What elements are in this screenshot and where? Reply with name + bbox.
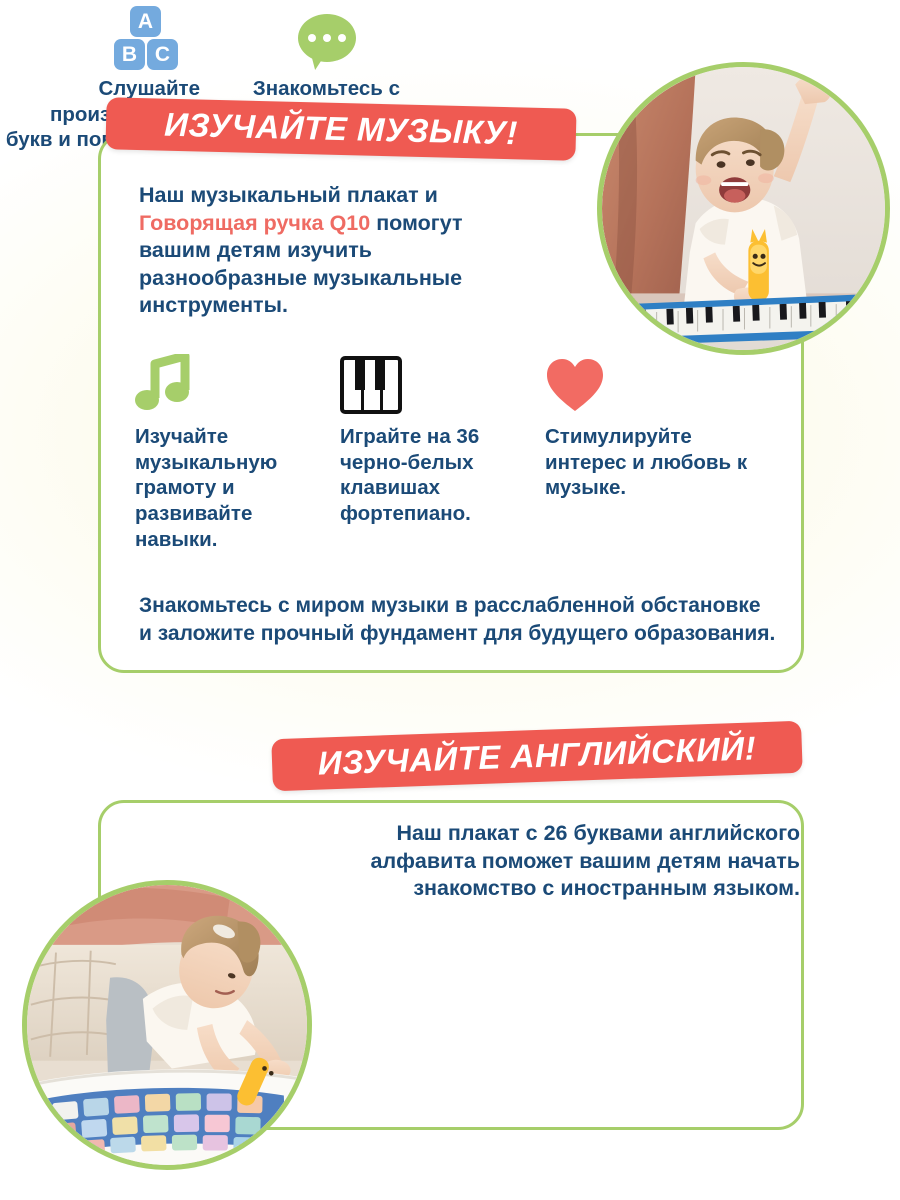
music-feature-2-label: Играйте на 36 черно-белых клавишах форте…: [340, 424, 545, 527]
english-intro-text: Наш плакат с 26 буквами английского алфа…: [300, 820, 800, 903]
bubble-dot-3: [338, 34, 346, 42]
english-banner-title: ИЗУЧАЙТЕ АНГЛИЙСКИЙ!: [271, 721, 802, 791]
block-letter-a: A: [130, 6, 161, 37]
abc-blocks-glyph: A B C: [114, 6, 176, 70]
music-photo-image: [602, 67, 885, 350]
speech-bubble-body: [298, 14, 356, 62]
english-photo-image: [27, 885, 307, 1165]
promo-page: ИЗУЧАЙТЕ МУЗЫКУ!: [0, 0, 900, 1200]
girl-with-alphabet-poster-illustration: [27, 885, 307, 1165]
bubble-dot-1: [308, 34, 316, 42]
heart-glyph: [545, 358, 605, 414]
music-intro-highlight: Говорящая ручка Q10: [139, 211, 370, 235]
speech-bubble-glyph: [298, 14, 358, 70]
speech-bubble-icon: [200, 0, 400, 70]
music-intro-part1: Наш музыкальный плакат и: [139, 183, 438, 207]
english-photo: [22, 880, 312, 1170]
piano-keys-glyph: [340, 356, 402, 414]
music-feature-2: Играйте на 36 черно-белых клавишах форте…: [340, 352, 545, 552]
piano-keys-icon: [340, 352, 545, 414]
heart-icon: [545, 352, 750, 414]
music-note-icon: [135, 352, 340, 414]
music-feature-3-label: Стимулируйте интерес и любовь к музыке.: [545, 424, 750, 501]
bubble-dot-2: [323, 34, 331, 42]
block-letter-c: C: [147, 39, 178, 70]
music-feature-list: Изучайте музыкальную грамоту и развивайт…: [135, 352, 795, 552]
music-feature-1: Изучайте музыкальную грамоту и развивайт…: [135, 352, 340, 552]
girl-with-pen-illustration: [602, 67, 885, 350]
music-outro-text: Знакомьтесь с миром музыки в расслабленн…: [139, 592, 779, 647]
abc-blocks-icon: A B C: [0, 0, 200, 70]
music-photo: [597, 62, 890, 355]
music-feature-1-label: Изучайте музыкальную грамоту и развивайт…: [135, 424, 340, 552]
block-letter-b: B: [114, 39, 145, 70]
music-note-glyph: [135, 354, 191, 414]
music-feature-3: Стимулируйте интерес и любовь к музыке.: [545, 352, 750, 552]
music-intro-text: Наш музыкальный плакат и Говорящая ручка…: [139, 182, 539, 320]
